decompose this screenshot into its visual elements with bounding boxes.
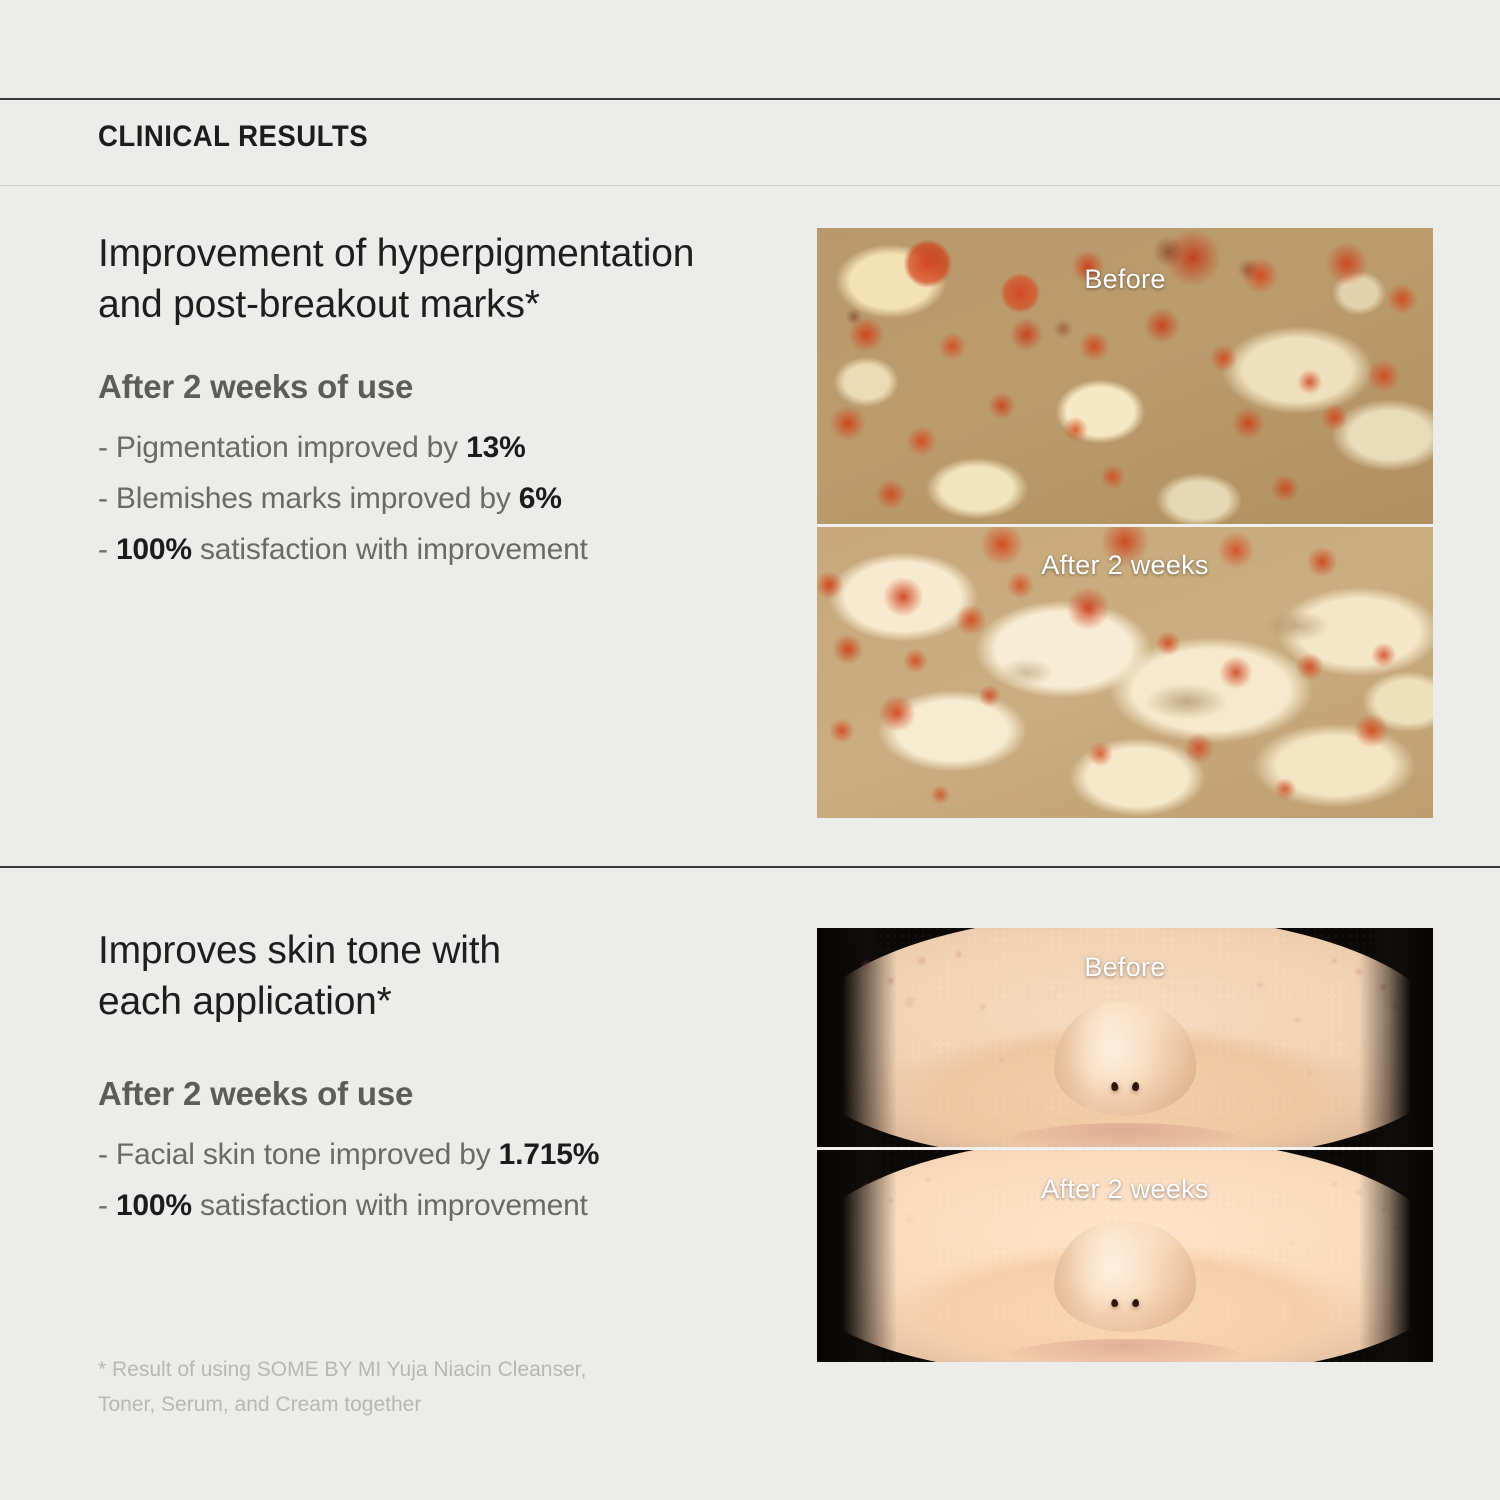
nostril-left	[1110, 1082, 1118, 1092]
section-2-before-photo: Before	[817, 928, 1433, 1147]
section-1-before-after-images: Before After 2 weeks	[817, 228, 1433, 818]
bullet-value: 13%	[466, 431, 525, 464]
bullet-value: 1.715%	[499, 1138, 600, 1171]
section-2-before-after-images: Before After 2 weeks	[817, 928, 1433, 1362]
clinical-results-page: CLINICAL RESULTS Improvement of hyperpig…	[0, 0, 1500, 1500]
nose-shape	[1054, 1002, 1196, 1116]
bullet-value: 100%	[116, 1189, 192, 1222]
list-item: - 100% satisfaction with improvement	[98, 524, 694, 575]
section-2-subhead: After 2 weeks of use	[98, 1075, 599, 1113]
nostril-right	[1131, 1299, 1139, 1308]
list-item: - 100% satisfaction with improvement	[98, 1180, 599, 1231]
after-label: After 2 weeks	[817, 550, 1433, 581]
section-1-before-photo: Before	[817, 228, 1433, 524]
nostril-left	[1110, 1299, 1118, 1308]
section-1-subhead: After 2 weeks of use	[98, 368, 694, 406]
section-label-clinical-results: CLINICAL RESULTS	[98, 120, 368, 154]
section-1-bullet-list: - Pigmentation improved by 13% - Blemish…	[98, 422, 694, 575]
bullet-prefix: -	[98, 1189, 116, 1222]
section-2-text-block: Improves skin tone with each application…	[98, 925, 599, 1231]
before-label: Before	[817, 952, 1433, 983]
bullet-value: 100%	[116, 533, 192, 566]
nostril-right	[1131, 1082, 1139, 1092]
bullet-suffix: satisfaction with improvement	[192, 533, 588, 566]
section-2-headline: Improves skin tone with each application…	[98, 925, 599, 1027]
bullet-suffix: satisfaction with improvement	[192, 1189, 588, 1222]
section-1-text-block: Improvement of hyperpigmentation and pos…	[98, 228, 694, 575]
section-1-after-photo: After 2 weeks	[817, 527, 1433, 818]
list-item: - Pigmentation improved by 13%	[98, 422, 694, 473]
section-1-photo-divider	[817, 524, 1433, 527]
after-label: After 2 weeks	[817, 1174, 1433, 1205]
nose-shape	[1054, 1222, 1196, 1332]
section-2-after-photo: After 2 weeks	[817, 1150, 1433, 1362]
divider-between-sections	[0, 866, 1500, 868]
bullet-prefix: - Pigmentation improved by	[98, 431, 466, 464]
divider-under-section-label	[0, 185, 1500, 186]
divider-top	[0, 98, 1500, 100]
bullet-prefix: -	[98, 533, 116, 566]
footnote: * Result of using SOME BY MI Yuja Niacin…	[98, 1352, 586, 1422]
list-item: - Blemishes marks improved by 6%	[98, 473, 694, 524]
bullet-value: 6%	[519, 482, 562, 515]
section-2-bullet-list: - Facial skin tone improved by 1.715% - …	[98, 1129, 599, 1231]
list-item: - Facial skin tone improved by 1.715%	[98, 1129, 599, 1180]
bullet-prefix: - Facial skin tone improved by	[98, 1138, 499, 1171]
section-2-photo-divider	[817, 1147, 1433, 1150]
before-label: Before	[817, 264, 1433, 295]
bullet-prefix: - Blemishes marks improved by	[98, 482, 519, 515]
section-1-headline: Improvement of hyperpigmentation and pos…	[98, 228, 694, 330]
